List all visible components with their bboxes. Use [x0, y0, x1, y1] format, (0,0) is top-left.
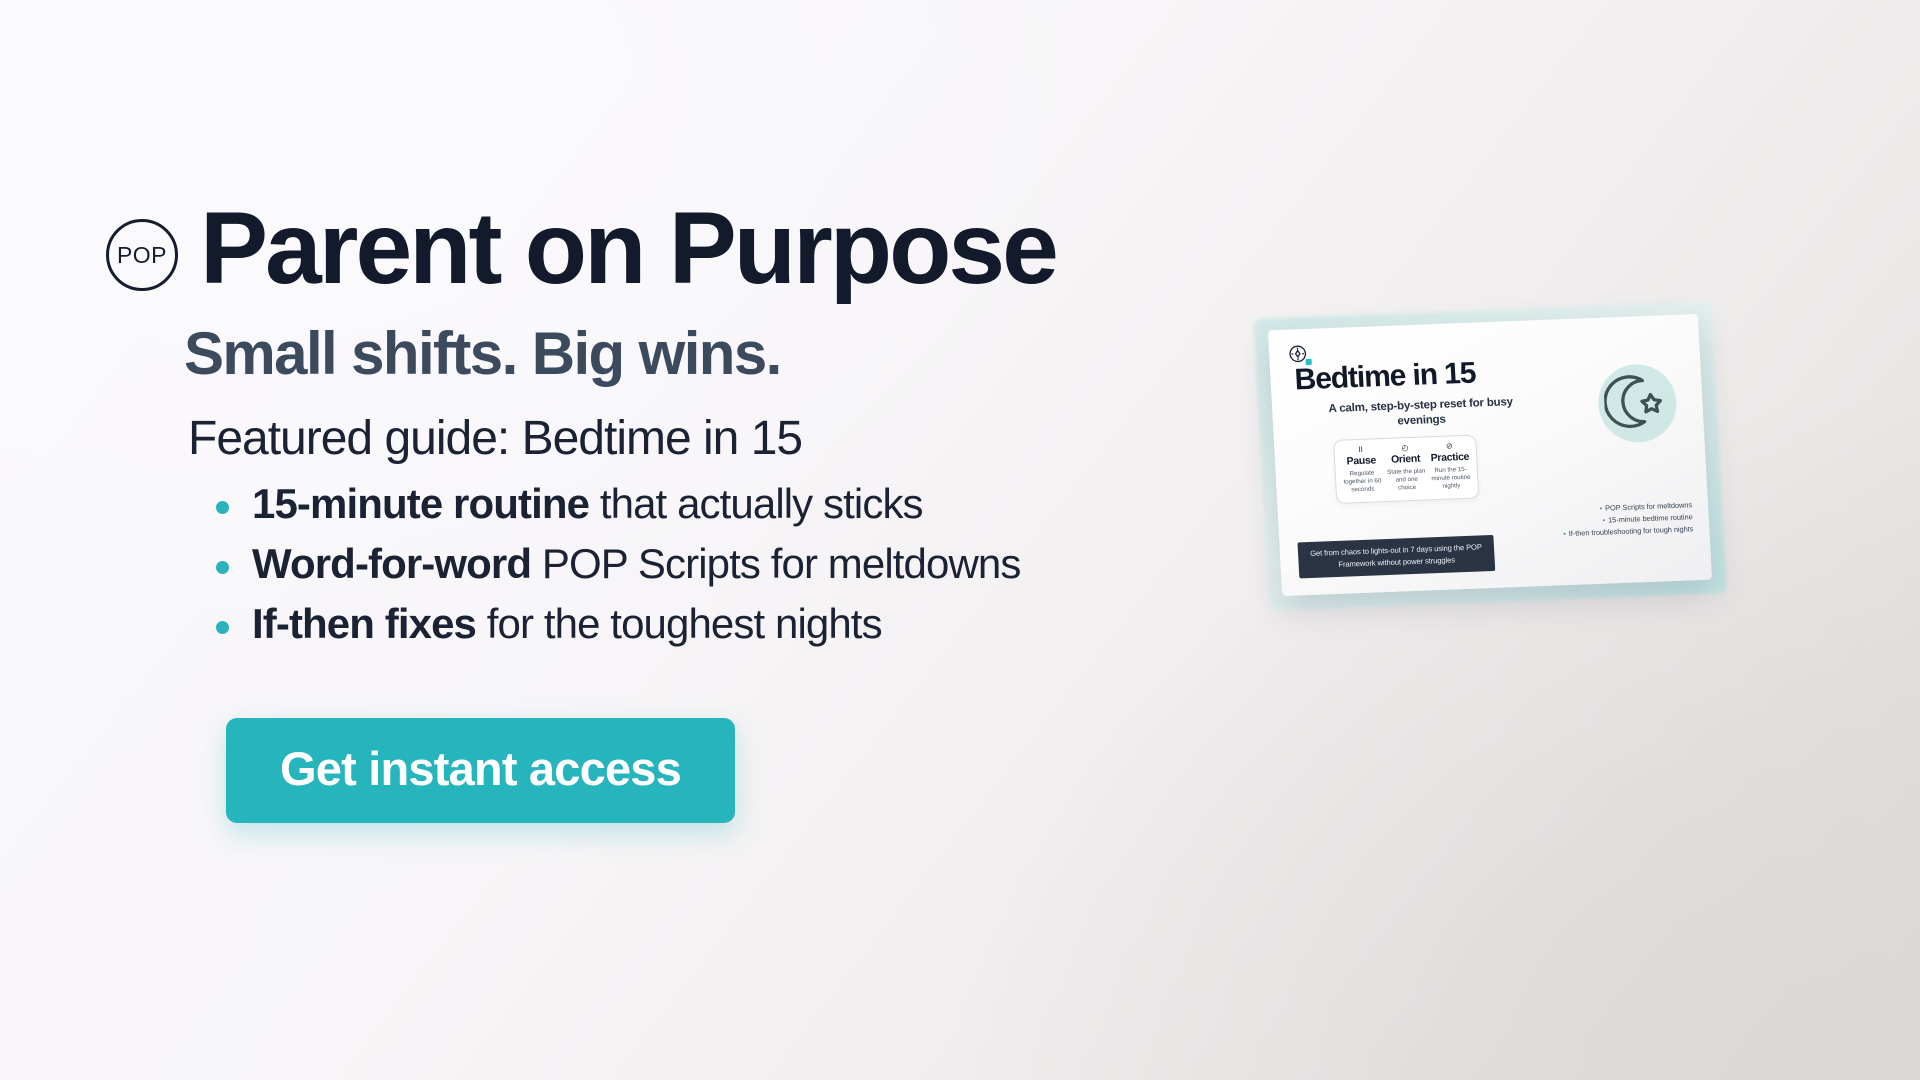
tagline: Small shifts. Big wins.: [184, 322, 1226, 385]
step-orient: ◴ Orient State the plan and one choice: [1383, 443, 1430, 493]
bullet-dot-icon: [216, 621, 229, 634]
step-pause: II Pause Regulate together in 60 seconds: [1338, 445, 1385, 495]
step-name: Orient: [1385, 453, 1426, 466]
list-item: Word-for-word POP Scripts for meltdowns: [216, 540, 1226, 587]
card-subtitle: A calm, step-by-step reset for busy even…: [1328, 395, 1514, 431]
benefit-rest: for the toughest nights: [476, 600, 882, 647]
list-item: 15-minute routine that actually sticks: [216, 480, 1226, 527]
card-title: Bedtime in 15: [1294, 359, 1476, 396]
featured-guide-label: Featured guide: Bedtime in 15: [188, 413, 1226, 466]
step-name: Practice: [1429, 452, 1470, 465]
logo-text: POP: [117, 242, 167, 269]
page-title: Parent on Purpose: [200, 196, 1056, 300]
pop-circle-badge-icon: POP: [106, 219, 178, 291]
benefit-list: 15-minute routine that actually sticks W…: [216, 480, 1226, 647]
steps-panel: II Pause Regulate together in 60 seconds…: [1333, 435, 1479, 504]
bullet-dot-icon: [216, 561, 229, 574]
benefit-rest: that actually sticks: [589, 480, 923, 527]
benefit-bold: If-then fixes: [252, 600, 476, 647]
product-card[interactable]: Bedtime in 15 A calm, step-by-step reset…: [1268, 314, 1712, 596]
step-description: State the plan and one choice: [1386, 467, 1428, 494]
moon-star-icon: [1603, 367, 1673, 435]
benefit-bold: Word-for-word: [252, 540, 531, 587]
check-circle-icon: ⊘: [1429, 442, 1470, 452]
pause-icon: II: [1340, 445, 1381, 455]
benefit-bold: 15-minute routine: [252, 480, 589, 527]
step-practice: ⊘ Practice Run the 15-minute routine nig…: [1427, 442, 1474, 492]
step-name: Pause: [1341, 455, 1382, 468]
bullet-dot-icon: [216, 501, 229, 514]
clock-icon: ◴: [1385, 443, 1426, 453]
step-description: Run the 15-minute routine nightly: [1430, 465, 1472, 492]
hero-content: POP Parent on Purpose Small shifts. Big …: [106, 196, 1226, 823]
card-promise-banner: Get from chaos to lights-out in 7 days u…: [1297, 535, 1495, 578]
brand-row: POP Parent on Purpose: [106, 196, 1226, 300]
list-item: If-then fixes for the toughest nights: [216, 600, 1226, 647]
hero-banner: POP Parent on Purpose Small shifts. Big …: [0, 0, 1920, 1080]
step-description: Regulate together in 60 seconds: [1342, 469, 1384, 496]
card-surface: Bedtime in 15 A calm, step-by-step reset…: [1268, 314, 1712, 596]
get-instant-access-button[interactable]: Get instant access: [226, 718, 735, 823]
card-benefit-list: POP Scripts for meltdowns 15-minute bedt…: [1562, 499, 1694, 540]
benefit-rest: POP Scripts for meltdowns: [531, 540, 1020, 587]
